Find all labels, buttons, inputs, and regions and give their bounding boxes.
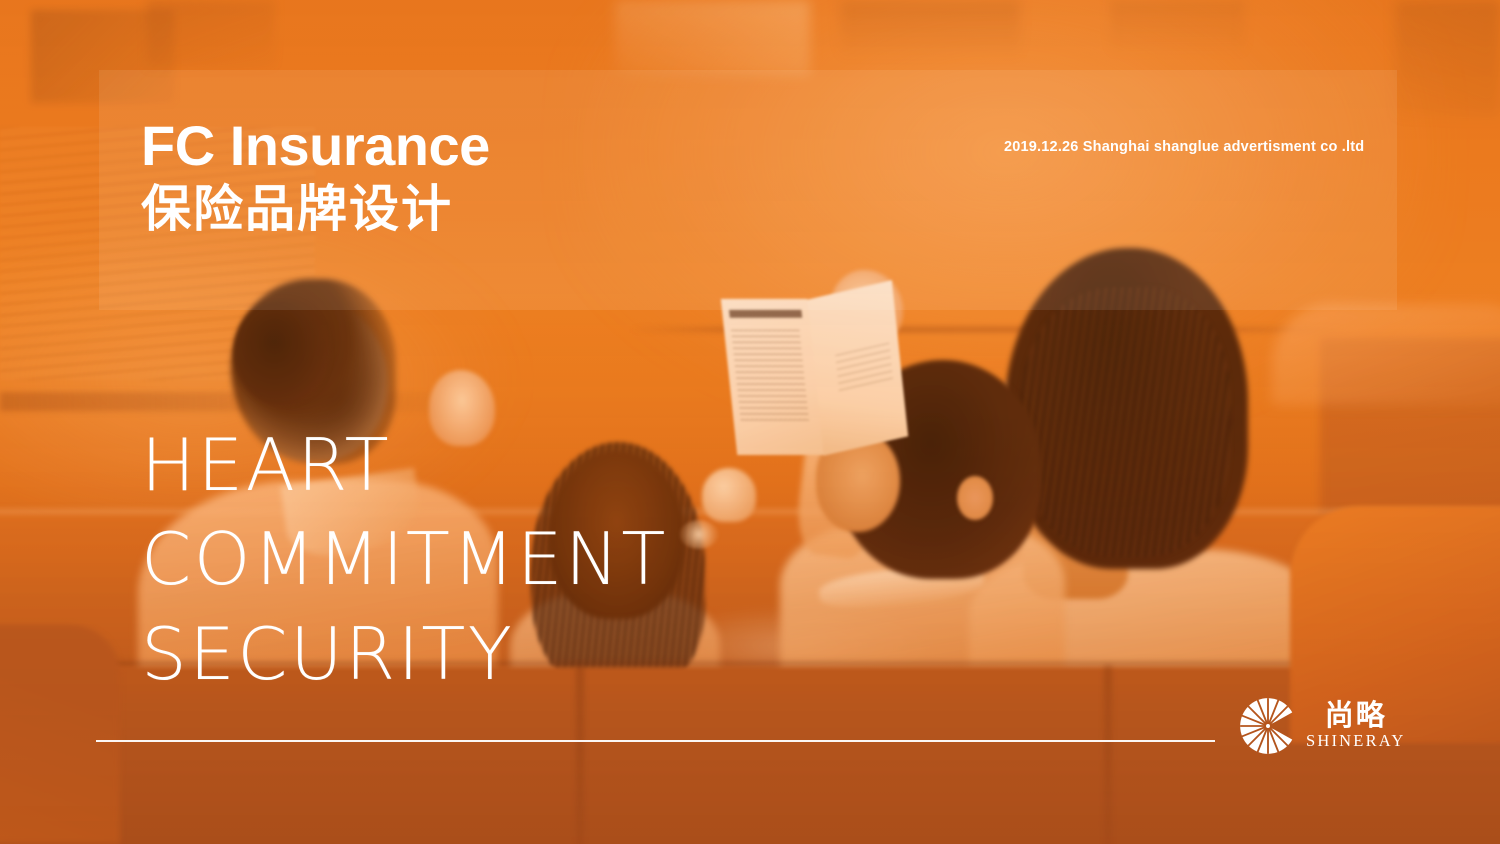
photo-open-book: [721, 285, 907, 459]
slide-meta-date-agency: 2019.12.26 Shanghai shanglue advertismen…: [1004, 139, 1364, 155]
page-title-en: FC Insurance: [141, 118, 901, 174]
tagline-line-commitment: COMMITMENT: [141, 512, 668, 606]
photo-mother-hair-bun: [234, 299, 330, 405]
page-title-cn: 保险品牌设计: [141, 180, 901, 239]
photo-sofa-arm-left: [0, 625, 120, 844]
photo-cushion-divider-2: [1104, 665, 1112, 844]
photo-toy: [702, 468, 756, 522]
tagline-line-security: SECURITY: [141, 607, 668, 701]
tagline-line-heart: HEART: [141, 418, 668, 512]
shineray-logo: 尚略 SHINERAY: [1239, 697, 1406, 755]
logo-name-cn: 尚略: [1325, 702, 1387, 732]
photo-wall-frame-f: [1395, 0, 1500, 118]
photo-girl-hair-bow: [680, 520, 719, 549]
photo-boy-ear: [957, 476, 993, 520]
photo-book-text-left: [731, 330, 809, 421]
logo-name-en: SHINERAY: [1306, 732, 1406, 750]
photo-wall-frame-b: [147, 0, 275, 68]
photo-wall-frame-c: [615, 0, 810, 76]
tagline-block: HEART COMMITMENT SECURITY: [141, 418, 668, 701]
photo-sofa-arm-right-top: [1272, 304, 1500, 405]
logo-wordmark: 尚略 SHINERAY: [1306, 702, 1406, 751]
photo-wall-frame-d: [840, 0, 1020, 59]
horizontal-divider-rule: [96, 740, 1215, 742]
photo-book-heading: [729, 310, 802, 318]
title-block: FC Insurance 保险品牌设计: [141, 118, 901, 239]
shineray-starburst-icon: [1239, 697, 1297, 755]
photo-father-hair-strands: [1020, 287, 1230, 557]
photo-wall-frame-e: [1110, 0, 1245, 55]
presentation-cover-slide: FC Insurance 保险品牌设计 2019.12.26 Shanghai …: [0, 0, 1500, 844]
